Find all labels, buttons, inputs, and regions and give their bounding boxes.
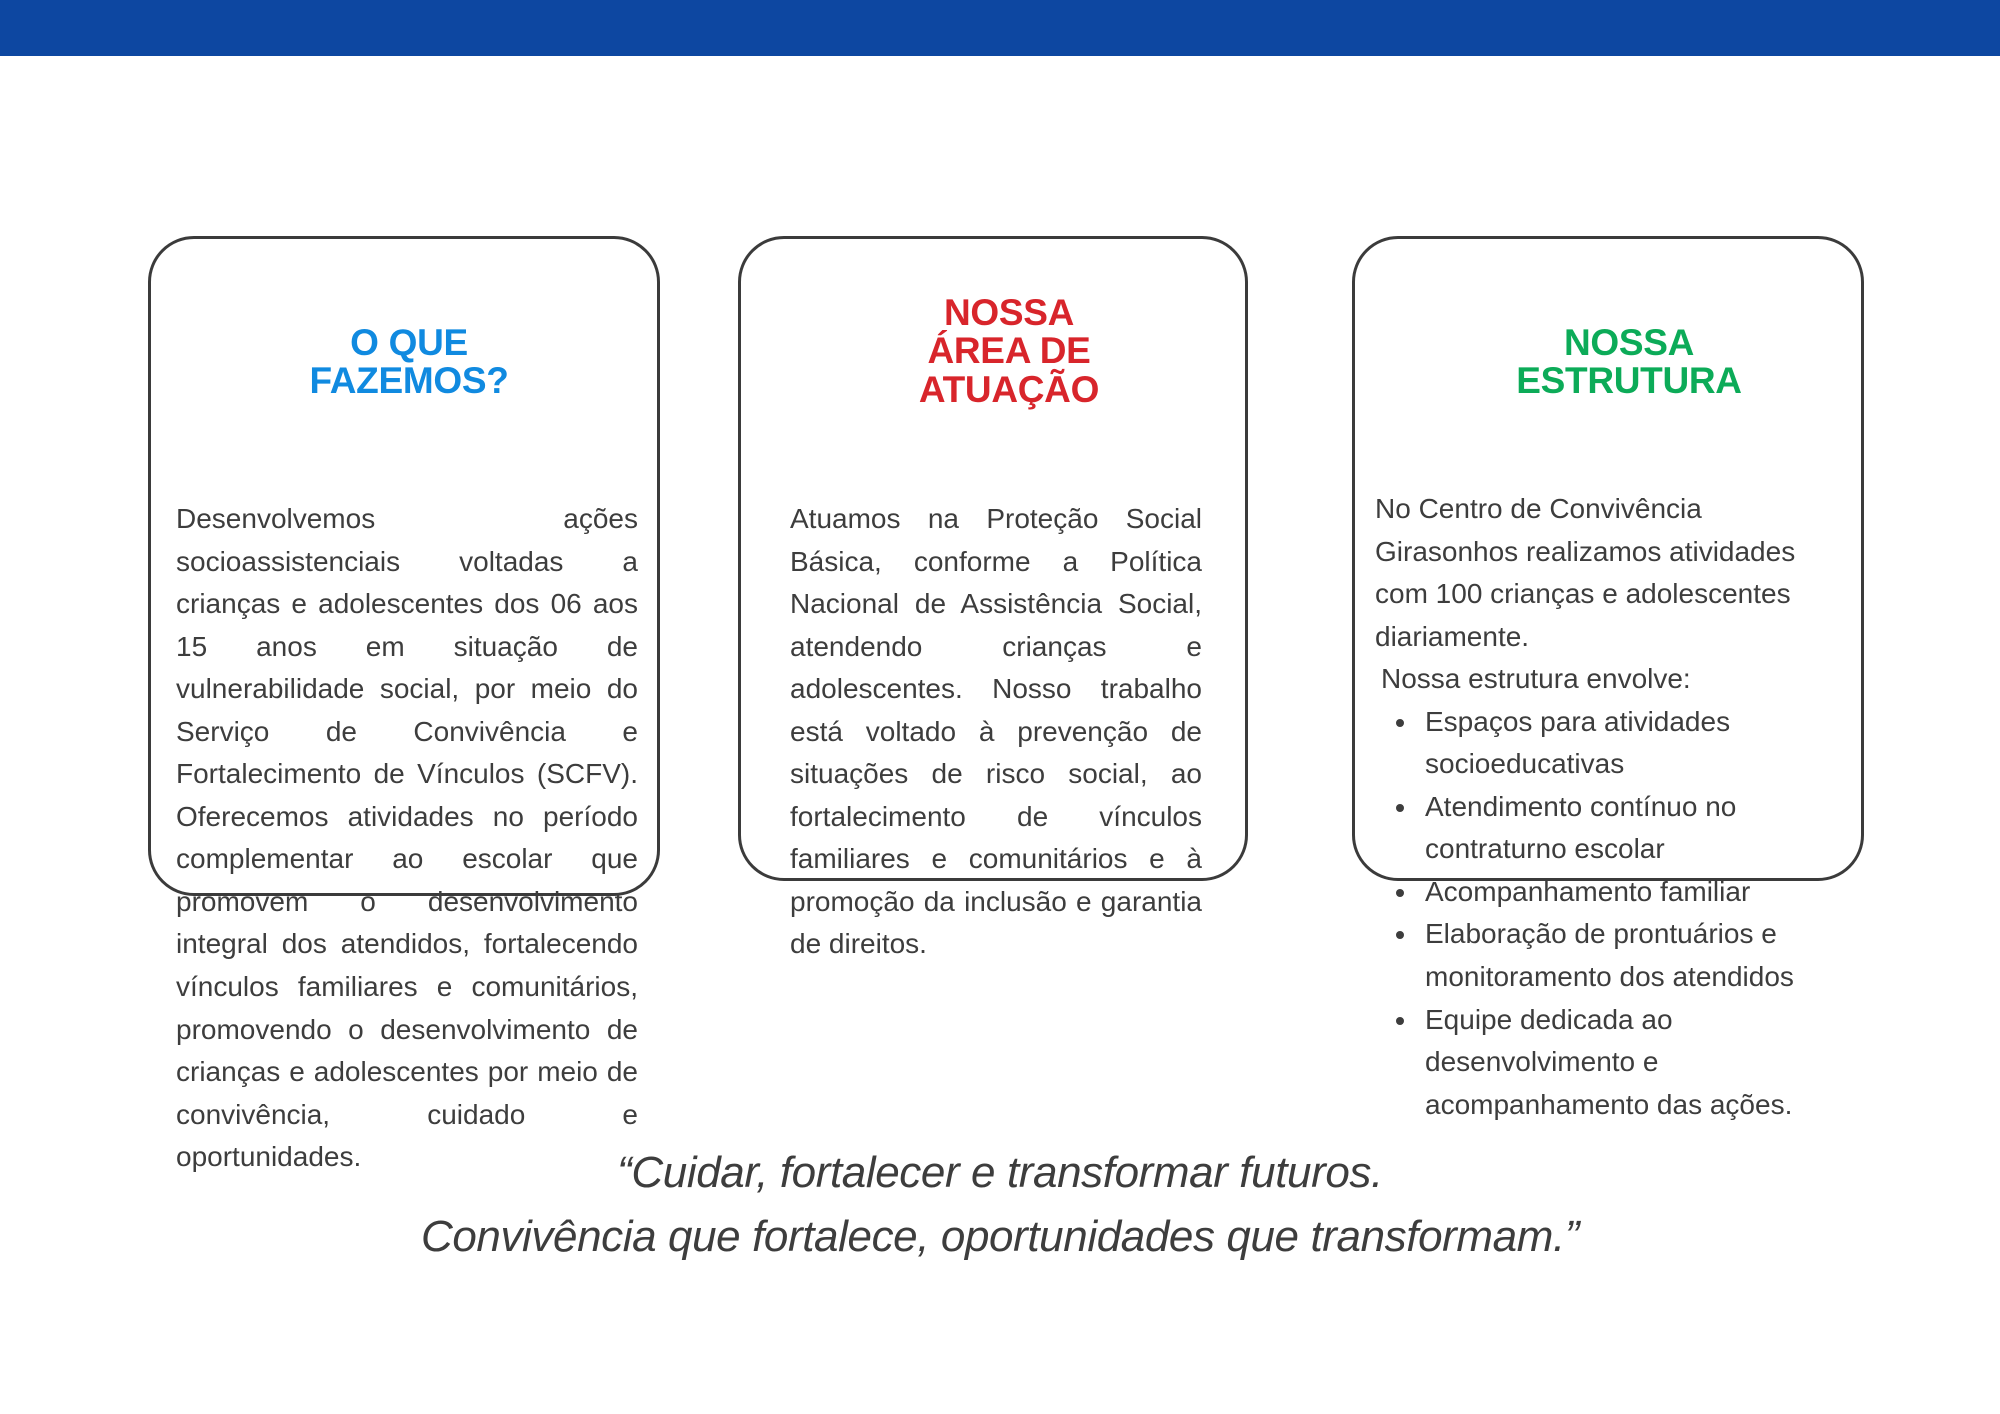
list-item: Atendimento contínuo no contraturno esco… — [1419, 786, 1840, 871]
card-title-nossa-area-de-atuacao: NOSSA ÁREA DE ATUAÇÃO — [870, 294, 1148, 409]
list-item: Equipe dedicada ao desenvolvimento e aco… — [1419, 999, 1840, 1127]
list-item: Elaboração de prontuários e monitorament… — [1419, 913, 1840, 998]
list-item: Acompanhamento familiar — [1419, 871, 1840, 914]
estrutura-bullet-list: Espaços para atividades socioeducativas … — [1375, 701, 1840, 1126]
card-title-nossa-estrutura: NOSSA ESTRUTURA — [1480, 324, 1778, 401]
estrutura-intro-text: No Centro de Convivência Girasonhos real… — [1375, 488, 1840, 658]
card-body-o-que-fazemos: Desenvolvemos ações socioassistenciais v… — [176, 498, 638, 1179]
card-body-nossa-estrutura: No Centro de Convivência Girasonhos real… — [1375, 488, 1840, 1126]
top-color-band — [0, 0, 2000, 56]
card-body-nossa-area-de-atuacao: Atuamos na Proteção Social Básica, confo… — [790, 498, 1202, 966]
list-item: Espaços para atividades socioeducativas — [1419, 701, 1840, 786]
card-title-o-que-fazemos: O QUE FAZEMOS? — [270, 324, 548, 401]
estrutura-lead-text: Nossa estrutura envolve: — [1375, 658, 1840, 701]
slide-content: O QUE FAZEMOS? Desenvolvemos ações socio… — [0, 56, 2000, 1414]
cards-row: O QUE FAZEMOS? Desenvolvemos ações socio… — [0, 168, 2000, 888]
closing-quote-line-2: Convivência que fortalece, oportunidades… — [0, 1205, 2000, 1269]
